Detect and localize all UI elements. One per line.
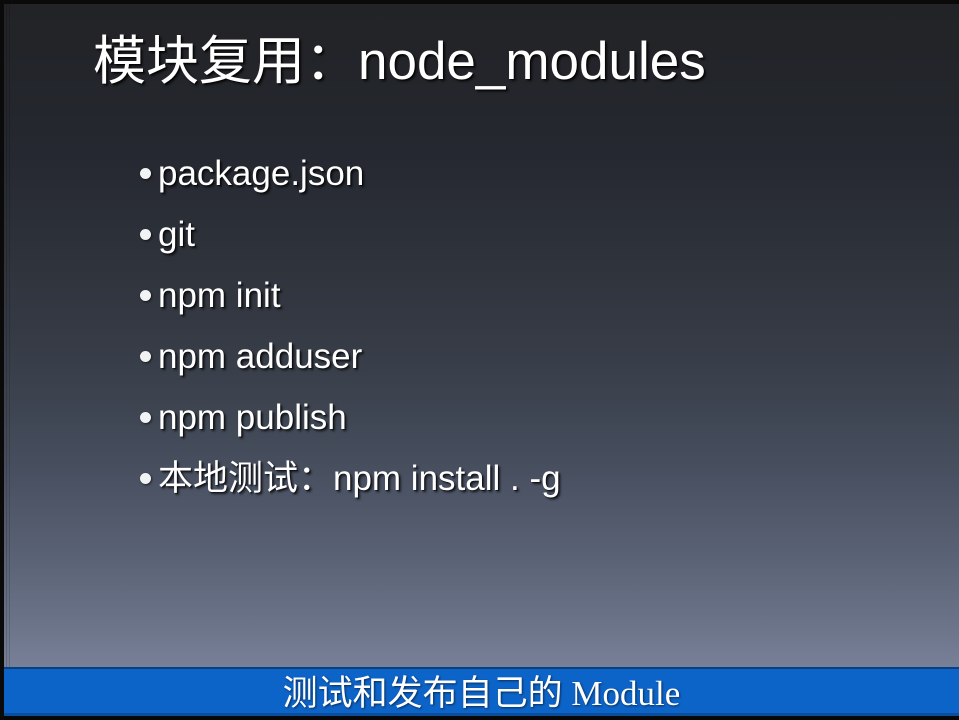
left-edge-seam (6, 4, 7, 720)
bullet-dot-icon (140, 412, 151, 423)
left-edge-seam-secondary (9, 4, 10, 720)
bullet-dot-icon (140, 229, 151, 240)
list-item: git (140, 204, 920, 265)
list-item: npm adduser (140, 326, 920, 387)
list-item-label: npm adduser (158, 337, 362, 377)
slide-background: 模块复用：node_modules package.json git npm i… (4, 4, 959, 720)
slide-canvas: 模块复用：node_modules package.json git npm i… (0, 0, 959, 720)
list-item-label: package.json (158, 154, 364, 194)
bullet-list: package.json git npm init npm adduser np… (140, 143, 920, 509)
bullet-dot-icon (140, 351, 151, 362)
list-item: package.json (140, 143, 920, 204)
list-item-label: npm init (158, 276, 281, 316)
list-item-label: 本地测试：npm install . -g (158, 459, 561, 499)
bullet-dot-icon (140, 473, 151, 484)
footer-banner: 测试和发布自己的 Module (4, 667, 959, 716)
list-item-label: git (158, 215, 195, 255)
bullet-dot-icon (140, 168, 151, 179)
list-item: 本地测试：npm install . -g (140, 448, 920, 509)
bottom-frame-edge (4, 716, 959, 720)
bullet-dot-icon (140, 290, 151, 301)
slide-title: 模块复用：node_modules (93, 26, 923, 98)
list-item: npm publish (140, 387, 920, 448)
list-item: npm init (140, 265, 920, 326)
list-item-label: npm publish (158, 398, 347, 438)
footer-title: 测试和发布自己的 Module (4, 672, 959, 716)
